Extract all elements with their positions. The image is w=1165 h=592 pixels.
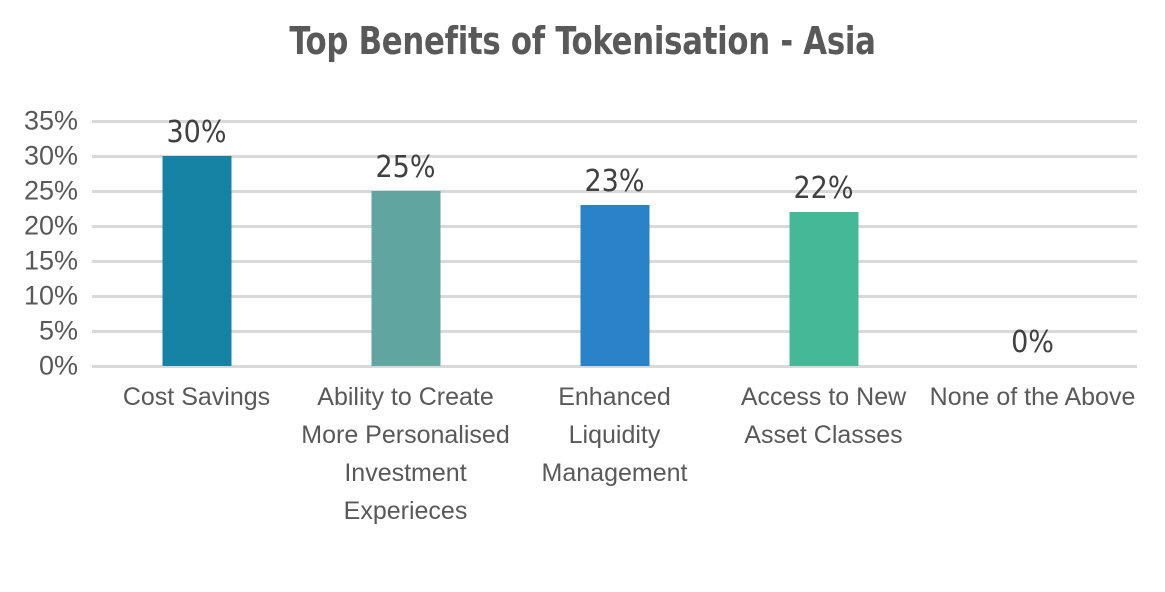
y-axis-tick-35: 35% (0, 108, 78, 135)
x-axis-label-cost-savings: Cost Savings (92, 378, 301, 416)
bar-slot-personalised-investment: 25% (301, 121, 510, 366)
bar-value-personalised-investment: 25% (376, 153, 436, 183)
bar-slot-none-of-the-above: 0% (928, 121, 1137, 366)
y-axis-tick-15: 15% (0, 248, 78, 275)
x-axis-label-enhanced-liquidity: Enhanced Liquidity Management (510, 378, 719, 492)
y-axis-tick-0: 0% (0, 353, 78, 380)
y-axis-tick-20: 20% (0, 213, 78, 240)
y-axis-tick-10: 10% (0, 283, 78, 310)
x-axis-label-new-asset-classes: Access to New Asset Classes (719, 378, 928, 454)
bar-slot-cost-savings: 30% (92, 121, 301, 366)
bar-value-new-asset-classes: 22% (794, 174, 854, 204)
y-axis-tick-30: 30% (0, 143, 78, 170)
x-axis-label-personalised-investment: Ability to Create More Personalised Inve… (301, 378, 510, 530)
y-axis: 35% 30% 25% 20% 15% 10% 5% 0% (0, 121, 78, 366)
x-axis-label-none-of-the-above: None of the Above (928, 378, 1137, 416)
x-axis: Cost Savings Ability to Create More Pers… (92, 378, 1137, 578)
bar-slot-new-asset-classes: 22% (719, 121, 928, 366)
bar-new-asset-classes[interactable] (789, 212, 858, 366)
bar-value-enhanced-liquidity: 23% (585, 167, 645, 197)
bar-enhanced-liquidity[interactable] (580, 205, 649, 366)
y-axis-tick-5: 5% (0, 318, 78, 345)
bar-value-cost-savings: 30% (167, 118, 227, 148)
chart-container: Top Benefits of Tokenisation - Asia 35% … (0, 0, 1165, 592)
bar-value-none-of-the-above: 0% (1011, 328, 1054, 358)
chart-title: Top Benefits of Tokenisation - Asia (58, 19, 1107, 63)
y-axis-tick-25: 25% (0, 178, 78, 205)
bar-cost-savings[interactable] (162, 156, 231, 366)
bar-slot-enhanced-liquidity: 23% (510, 121, 719, 366)
bar-personalised-investment[interactable] (371, 191, 440, 366)
bar-series: 30% 25% 23% 22% 0% (92, 121, 1137, 366)
